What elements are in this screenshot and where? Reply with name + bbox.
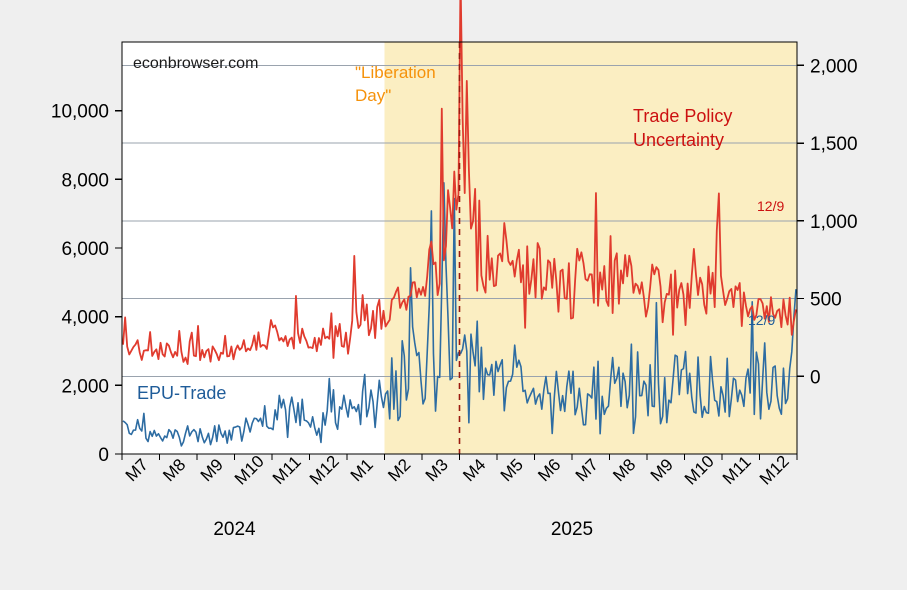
right-axis-tick-label: 0: [810, 367, 821, 388]
right-axis-tick-label: 2,000: [810, 56, 858, 77]
left-axis-tick-label: 6,000: [61, 239, 109, 260]
x-axis-year-label: 2025: [551, 519, 593, 540]
liberation-day-annotation-line2: Day": [355, 86, 391, 105]
endpoint-label-red: 12/9: [757, 198, 784, 214]
trade-policy-uncertainty-label-line1: Trade Policy: [633, 106, 732, 126]
endpoint-label-blue: 12/9: [748, 312, 775, 328]
left-axis-tick-label: 2,000: [61, 376, 109, 397]
chart-figure: econbrowser.com "Liberation Day" Trade P…: [0, 0, 907, 590]
left-axis-tick-label: 4,000: [61, 308, 109, 329]
right-axis-tick-label: 500: [810, 290, 842, 311]
left-axis-tick-label: 8,000: [61, 170, 109, 191]
left-axis-tick-label: 0: [98, 445, 109, 466]
right-axis-tick-label: 1,000: [810, 212, 858, 233]
right-axis-tick-label: 1,500: [810, 134, 858, 155]
watermark-label: econbrowser.com: [133, 55, 258, 72]
epu-trade-label: EPU-Trade: [137, 383, 226, 403]
left-axis-tick-label: 10,000: [51, 102, 109, 123]
liberation-day-annotation-line1: "Liberation: [355, 63, 436, 82]
x-axis-year-label: 2024: [213, 519, 256, 540]
trade-policy-uncertainty-label-line2: Uncertainty: [633, 130, 724, 150]
